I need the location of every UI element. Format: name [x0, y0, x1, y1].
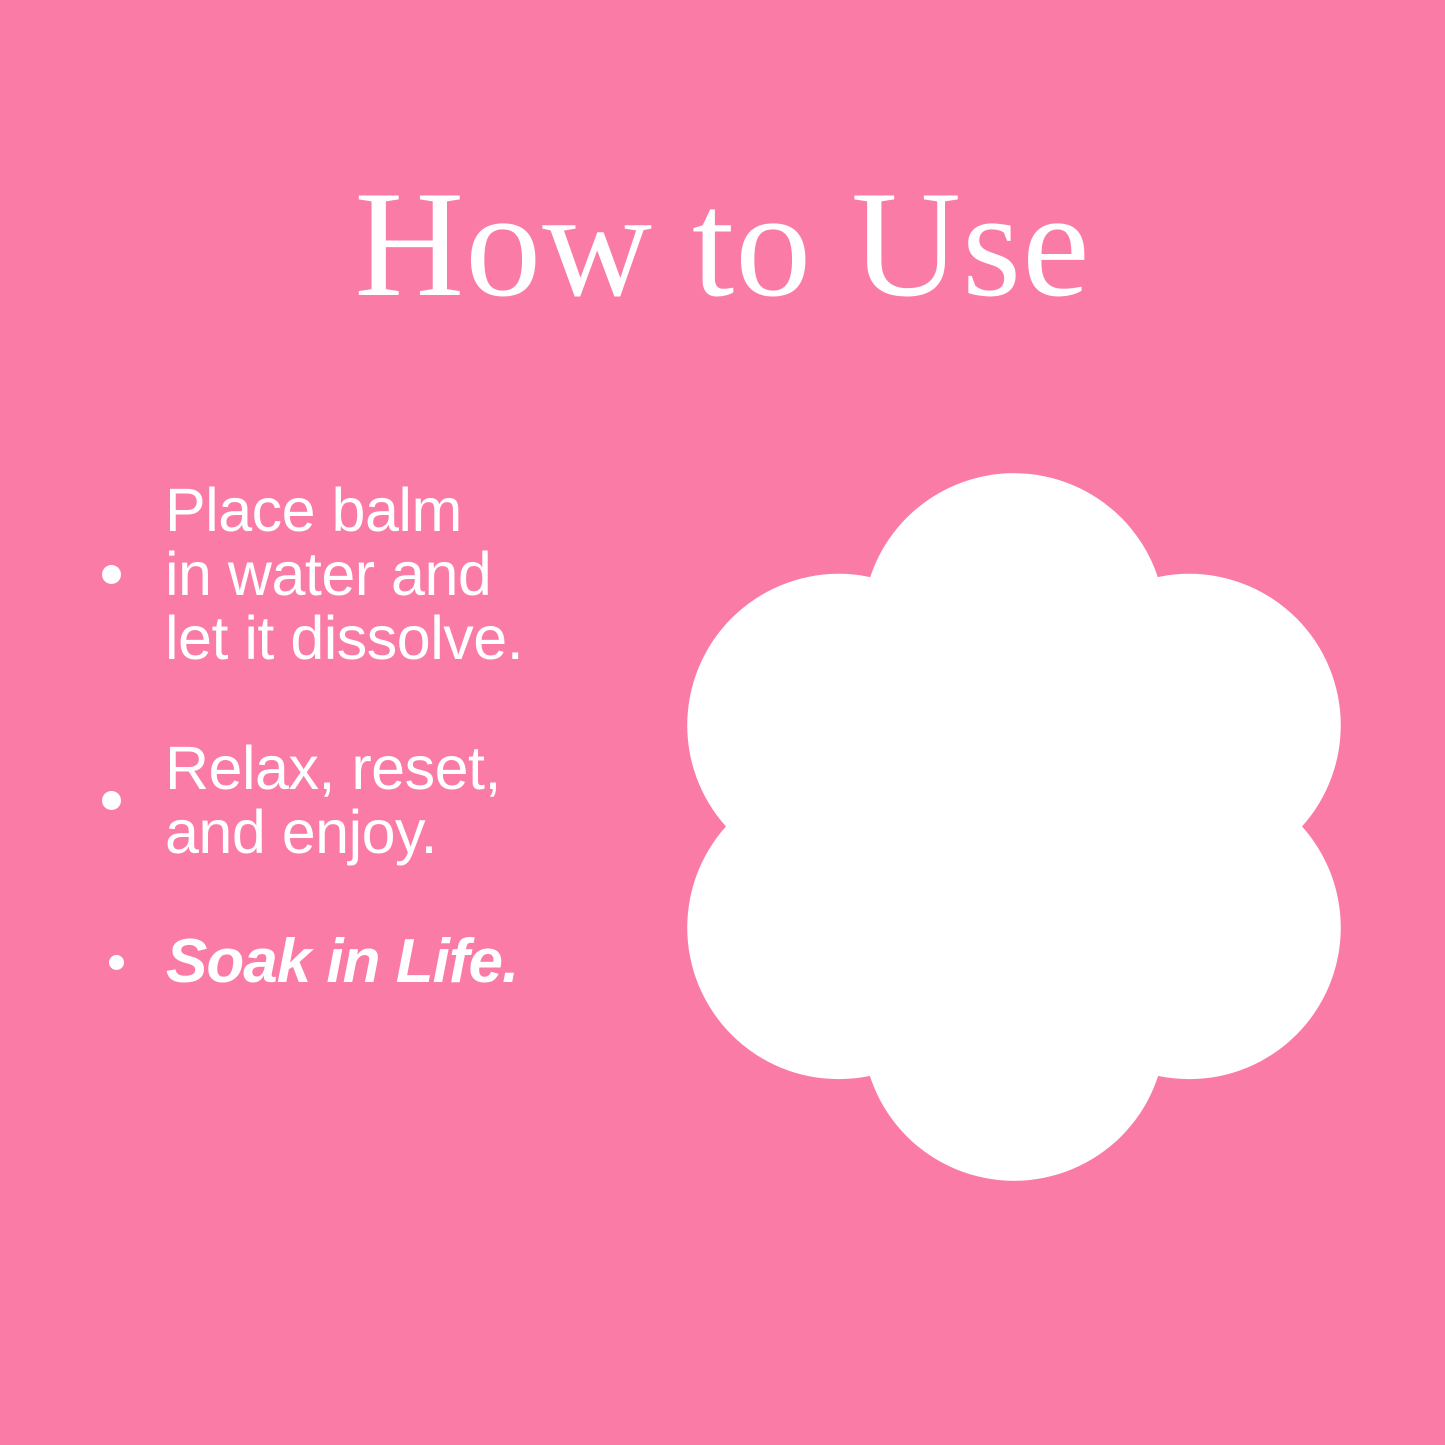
flower-outline: [687, 473, 1341, 1181]
list-item: Relax, reset, and enjoy.: [88, 736, 648, 864]
dot-bullet-icon: [102, 791, 121, 810]
flower-photo: [640, 440, 1388, 1188]
list-item: Soak in Life.: [88, 930, 648, 994]
list-item: Place balm in water and let it dissolve.: [88, 478, 648, 670]
flower-photo-frame: [640, 440, 1388, 1188]
dot-bullet-icon: [102, 565, 121, 584]
step-text: Place balm in water and let it dissolve.: [165, 478, 523, 670]
poster-canvas: How to Use Place balm in water and let i…: [0, 0, 1445, 1445]
how-to-use-steps-list: Place balm in water and let it dissolve.…: [88, 478, 648, 994]
dot-bullet-icon: [109, 955, 124, 970]
step-text: Relax, reset, and enjoy.: [165, 736, 501, 864]
step-text: Soak in Life.: [166, 930, 518, 994]
page-title: How to Use: [0, 168, 1445, 320]
